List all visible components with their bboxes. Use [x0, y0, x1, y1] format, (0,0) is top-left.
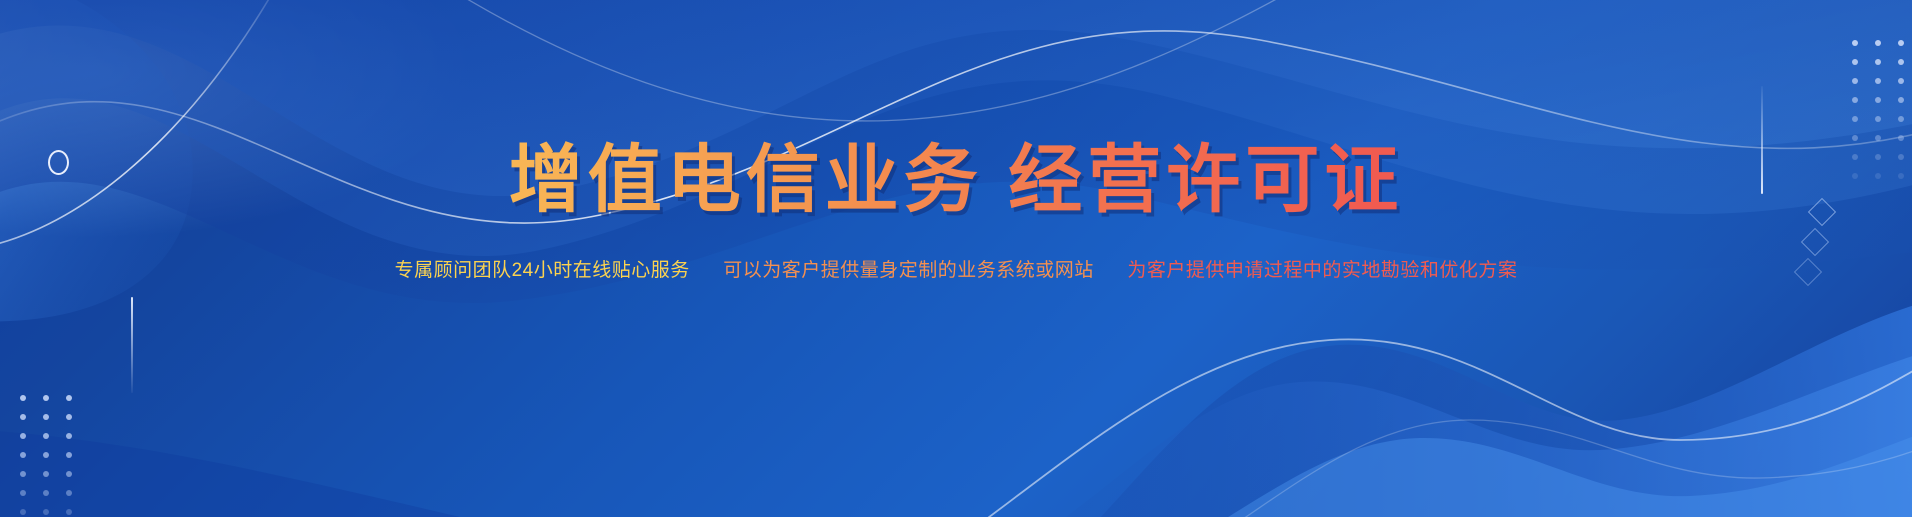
grid-dot	[66, 471, 72, 477]
grid-dot	[43, 395, 49, 401]
grid-dot	[43, 433, 49, 439]
vertical-rule-left	[131, 297, 133, 393]
grid-dot	[43, 471, 49, 477]
grid-dot	[20, 414, 26, 420]
grid-dot	[43, 490, 49, 496]
grid-dot	[20, 509, 26, 515]
grid-dot	[43, 414, 49, 420]
grid-dot	[20, 433, 26, 439]
grid-dot	[66, 414, 72, 420]
grid-dot	[43, 452, 49, 458]
grid-dot	[66, 452, 72, 458]
subtitle-segment-2: 可以为客户提供量身定制的业务系统或网站	[723, 260, 1094, 281]
grid-dot	[20, 452, 26, 458]
banner-title: 增值电信业务 经营许可证	[0, 0, 1912, 217]
dot-grid-bottom-left-icon	[20, 395, 72, 515]
grid-dot	[66, 395, 72, 401]
grid-dot	[20, 471, 26, 477]
promo-banner: 增值电信业务 经营许可证 专属顾问团队24小时在线贴心服务 可以为客户提供量身定…	[0, 0, 1912, 517]
banner-text-block: 增值电信业务 经营许可证 专属顾问团队24小时在线贴心服务 可以为客户提供量身定…	[0, 0, 1912, 283]
grid-dot	[66, 490, 72, 496]
grid-dot	[20, 395, 26, 401]
subtitle-segment-3: 为客户提供申请过程中的实地勘验和优化方案	[1127, 260, 1517, 281]
grid-dot	[66, 509, 72, 515]
grid-dot	[66, 433, 72, 439]
banner-subtitle: 专属顾问团队24小时在线贴心服务 可以为客户提供量身定制的业务系统或网站 为客户…	[0, 217, 1912, 283]
grid-dot	[43, 509, 49, 515]
grid-dot	[20, 490, 26, 496]
subtitle-segment-1: 专属顾问团队24小时在线贴心服务	[395, 260, 690, 281]
